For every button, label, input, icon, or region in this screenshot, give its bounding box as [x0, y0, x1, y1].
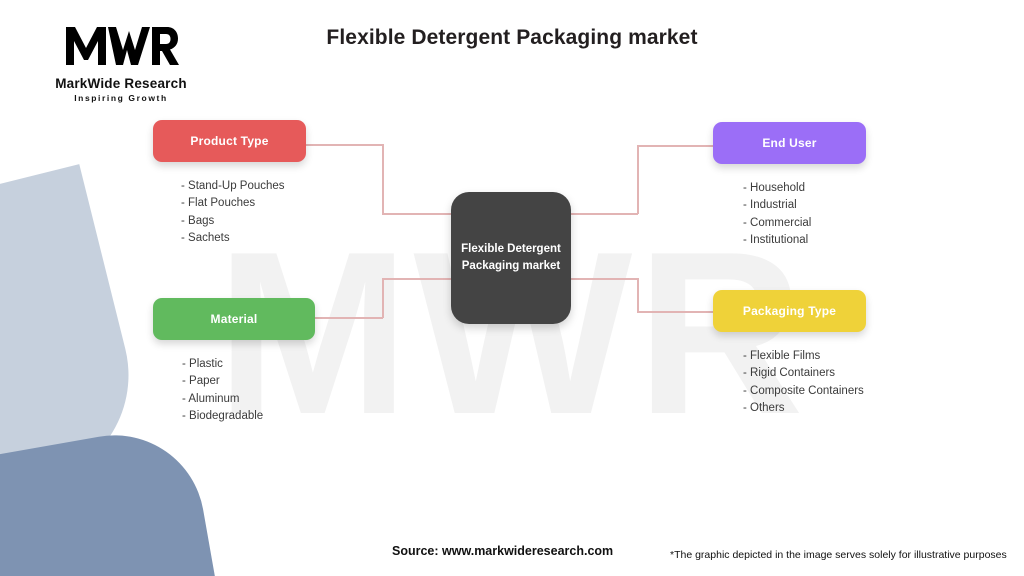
- connector-material-h2: [382, 278, 454, 280]
- category-title-end-user: End User: [762, 136, 816, 150]
- category-items-packaging-type: - Flexible Films - Rigid Containers - Co…: [713, 348, 866, 418]
- category-header-packaging-type[interactable]: Packaging Type: [713, 290, 866, 332]
- list-item: - Stand-Up Pouches: [181, 178, 306, 195]
- list-item: - Industrial: [743, 197, 866, 214]
- logo-tagline: Inspiring Growth: [16, 93, 226, 103]
- category-items-material: - Plastic - Paper - Aluminum - Biodegrad…: [153, 356, 315, 426]
- category-title-material: Material: [211, 312, 258, 326]
- list-item: - Aluminum: [182, 391, 315, 408]
- list-item: - Commercial: [743, 215, 866, 232]
- category-material: Material - Plastic - Paper - Aluminum - …: [153, 298, 315, 426]
- connector-material-v: [382, 278, 384, 318]
- connector-packaging-type-v: [637, 278, 639, 312]
- connector-material-h1: [315, 317, 383, 319]
- category-product-type: Product Type - Stand-Up Pouches - Flat P…: [153, 120, 306, 248]
- page-title: Flexible Detergent Packaging market: [0, 26, 1024, 50]
- center-node: Flexible Detergent Packaging market: [451, 192, 571, 324]
- list-item: - Plastic: [182, 356, 315, 373]
- list-item: - Bags: [181, 213, 306, 230]
- list-item: - Biodegradable: [182, 408, 315, 425]
- connector-end-user-h1: [568, 213, 638, 215]
- logo-name: MarkWide Research: [16, 76, 226, 91]
- center-node-label: Flexible Detergent Packaging market: [453, 241, 569, 274]
- list-item: - Rigid Containers: [743, 365, 866, 382]
- connector-product-type-h1: [306, 144, 383, 146]
- connector-product-type-v: [382, 144, 384, 214]
- connector-product-type-h2: [382, 213, 454, 215]
- connector-end-user-h2: [637, 145, 714, 147]
- diagram-page: MWR MarkWide Research Inspiring Growth F…: [0, 0, 1024, 576]
- connector-packaging-type-h1: [568, 278, 638, 280]
- category-header-product-type[interactable]: Product Type: [153, 120, 306, 162]
- disclaimer-label: *The graphic depicted in the image serve…: [670, 549, 1007, 561]
- list-item: - Flat Pouches: [181, 195, 306, 212]
- category-header-material[interactable]: Material: [153, 298, 315, 340]
- list-item: - Paper: [182, 373, 315, 390]
- category-header-end-user[interactable]: End User: [713, 122, 866, 164]
- list-item: - Household: [743, 180, 866, 197]
- list-item: - Institutional: [743, 232, 866, 249]
- category-items-product-type: - Stand-Up Pouches - Flat Pouches - Bags…: [153, 178, 306, 248]
- category-end-user: End User - Household - Industrial - Comm…: [713, 122, 866, 250]
- category-items-end-user: - Household - Industrial - Commercial - …: [713, 180, 866, 250]
- category-title-packaging-type: Packaging Type: [743, 304, 836, 318]
- category-packaging-type: Packaging Type - Flexible Films - Rigid …: [713, 290, 866, 418]
- list-item: - Sachets: [181, 230, 306, 247]
- list-item: - Composite Containers: [743, 383, 866, 400]
- connector-end-user-v: [637, 145, 639, 214]
- connector-packaging-type-h2: [637, 311, 714, 313]
- category-title-product-type: Product Type: [190, 134, 268, 148]
- list-item: - Others: [743, 400, 866, 417]
- list-item: - Flexible Films: [743, 348, 866, 365]
- source-label: Source: www.markwideresearch.com: [392, 544, 613, 558]
